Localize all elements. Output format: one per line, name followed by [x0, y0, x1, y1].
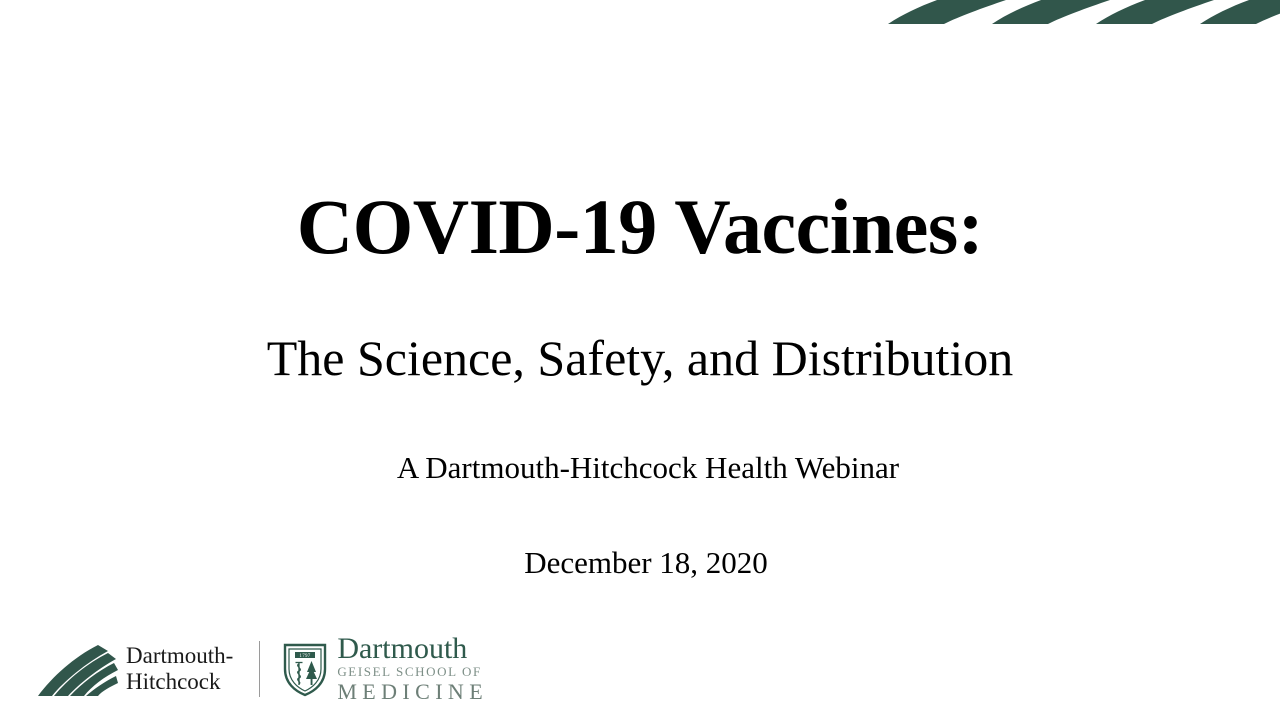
dartmouth-hitchcock-swoosh-mark-icon [36, 641, 118, 697]
geisel-shield-crest-icon: 1797 [282, 641, 328, 697]
event-date: December 18, 2020 [6, 545, 1280, 581]
dh-wordmark-line-1: Dartmouth- [126, 643, 233, 669]
diagonal-swoosh-stripes-decoration [852, 0, 1280, 24]
geisel-school-of-medicine-logo: 1797 Dartmouth GE [282, 634, 488, 703]
event-description: A Dartmouth-Hitchcock Health Webinar [8, 450, 1280, 486]
dartmouth-hitchcock-logo: Dartmouth- Hitchcock [36, 641, 233, 697]
logo-band: Dartmouth- Hitchcock 1797 [36, 636, 488, 702]
geisel-wordmark-medicine: MEDICINE [337, 680, 488, 704]
geisel-wordmark-dartmouth: Dartmouth [337, 634, 488, 663]
presentation-title-slide: COVID-19 Vaccines: The Science, Safety, … [0, 0, 1280, 720]
page-subtitle: The Science, Safety, and Distribution [0, 331, 1280, 386]
dh-wordmark-line-2: Hitchcock [126, 669, 233, 695]
dartmouth-hitchcock-wordmark: Dartmouth- Hitchcock [126, 643, 233, 695]
page-title: COVID-19 Vaccines: [0, 186, 1280, 268]
geisel-wordmark: Dartmouth GEISEL SCHOOL OF MEDICINE [337, 634, 488, 703]
svg-text:1797: 1797 [300, 654, 311, 659]
logo-divider [259, 641, 260, 697]
geisel-wordmark-school-line: GEISEL SCHOOL OF [337, 664, 488, 680]
